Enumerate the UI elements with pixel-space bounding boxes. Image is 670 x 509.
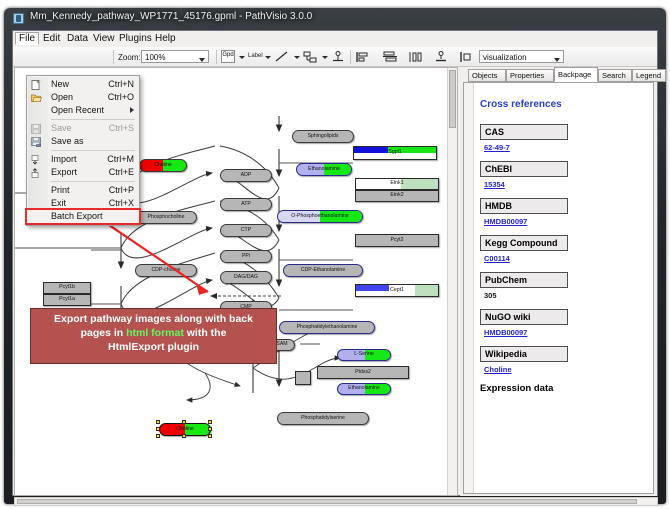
export-icon	[31, 168, 42, 178]
submenu-arrow-icon	[130, 107, 134, 113]
label-dropdown-icon[interactable]	[265, 56, 271, 59]
label-tool-button[interactable]: Label	[248, 53, 263, 59]
anchor-tool-icon[interactable]	[332, 51, 344, 63]
node-fill-left	[356, 285, 389, 291]
visualization-combo[interactable]: visualization	[479, 50, 564, 63]
backpage-scrollbar[interactable]	[464, 83, 474, 493]
db-header-wikipedia: Wikipedia	[480, 346, 568, 362]
line-dropdown-icon[interactable]	[294, 56, 300, 59]
pathway-node[interactable]: CTP	[220, 224, 272, 237]
db-value-pubchem: 305	[484, 291, 645, 300]
pathway-node[interactable]: Choline	[139, 159, 187, 172]
menu-item-new-accel: Ctrl+N	[108, 78, 134, 91]
import-icon	[31, 155, 42, 165]
shape-dropdown-icon[interactable]	[322, 56, 328, 59]
chevron-down-icon	[199, 58, 205, 62]
menu-item-export-accel: Ctrl+E	[109, 166, 134, 179]
selection-handle[interactable]	[208, 434, 212, 438]
menu-item-save-as-label: Save as	[51, 136, 84, 146]
title-bar: Mm_Kennedy_pathway_WP1771_45176.gpml - P…	[4, 8, 666, 30]
menu-item-import-label: Import	[51, 154, 77, 164]
menu-item-new-label: New	[51, 79, 69, 89]
backpage-body: Cross references CAS 62-49-7 ChEBI 15354…	[474, 83, 653, 493]
menu-item-open[interactable]: Open Ctrl+O	[27, 91, 139, 104]
callout-line-2a: pages in	[81, 327, 127, 339]
selection-handle[interactable]	[156, 427, 160, 431]
gene-node[interactable]: Sgpl1	[353, 146, 437, 160]
new-document-icon	[31, 80, 42, 90]
node-fill-right	[415, 285, 438, 296]
menu-item-save-label: Save	[51, 123, 72, 133]
gene-node-small[interactable]	[295, 371, 311, 385]
menu-item-exit[interactable]: Exit Ctrl+X	[27, 197, 139, 210]
expression-data-heading: Expression data	[480, 383, 645, 394]
menu-item-export-label: Export	[51, 167, 77, 177]
menu-item-exit-accel: Ctrl+X	[109, 197, 134, 210]
canvas-vertical-scroll-thumb[interactable]	[449, 70, 456, 128]
geneproduct-dropdown-icon[interactable]	[239, 56, 245, 59]
db-header-hmdb: HMDB	[480, 198, 568, 214]
size-icon[interactable]	[460, 51, 472, 63]
cross-references-heading: Cross references	[480, 99, 645, 110]
toolbar-separator-3	[350, 50, 351, 64]
toolbar-separator-2	[216, 50, 217, 64]
selection-handle[interactable]	[208, 420, 212, 424]
stack-icon[interactable]	[435, 51, 447, 63]
menu-item-open-accel: Ctrl+O	[108, 91, 134, 104]
selection-handle[interactable]	[182, 420, 186, 424]
menu-item-save-accel: Ctrl+S	[109, 122, 134, 135]
menu-item-open-recent[interactable]: Open Recent	[27, 104, 139, 117]
db-link-cas[interactable]: 62-49-7	[484, 143, 645, 152]
db-link-nugo[interactable]: HMDB00097	[484, 328, 645, 337]
tab-properties[interactable]: Properties	[506, 69, 554, 82]
shape-tool-icon[interactable]	[303, 51, 317, 63]
db-header-nugo: NuGO wiki	[480, 309, 568, 325]
side-panel-tabs: Objects Properties Backpage Search Legen…	[462, 67, 657, 82]
zoom-label: Zoom:	[118, 53, 141, 62]
line-tool-icon[interactable]	[275, 51, 289, 63]
pathway-node[interactable]: Ethanolamine	[296, 163, 352, 176]
window-title: Mm_Kennedy_pathway_WP1771_45176.gpml - P…	[30, 11, 312, 22]
client-area: File Edit Data View Plugins Help Zoom: 1…	[12, 30, 658, 496]
toolbar: Zoom: 100% Gpd Label	[13, 47, 657, 67]
open-folder-icon	[31, 93, 42, 103]
selection-handle[interactable]	[156, 434, 160, 438]
db-header-kegg: Kegg Compound	[480, 235, 568, 251]
selection-handle[interactable]	[156, 420, 160, 424]
menu-edit[interactable]: Edit	[39, 32, 64, 45]
pathway-node[interactable]: Phosphatidylethanolamine	[279, 321, 375, 334]
pathway-node[interactable]: Ethanolamine	[337, 383, 391, 395]
pathway-node[interactable]: CDP-Ethanolamine	[283, 264, 363, 277]
db-header-cas: CAS	[480, 124, 568, 140]
selection-handle[interactable]	[208, 427, 212, 431]
db-link-kegg[interactable]: C00114	[484, 254, 645, 263]
toolbar-separator	[113, 50, 114, 64]
menu-item-exit-label: Exit	[51, 198, 66, 208]
geneproduct-icon: Gpd	[222, 52, 234, 58]
menu-separator-2	[51, 150, 135, 151]
window-frame: Mm_Kennedy_pathway_WP1771_45176.gpml - P…	[4, 8, 666, 504]
pathway-node[interactable]: PPi	[220, 250, 272, 263]
menu-item-batch-export-label: Batch Export	[51, 211, 103, 221]
gene-node[interactable]: Cept1	[355, 284, 439, 297]
db-link-hmdb[interactable]: HMDB00097	[484, 217, 645, 226]
menu-item-save[interactable]: Save Ctrl+S	[27, 122, 139, 135]
callout-line-2: pages in html format with the	[37, 327, 270, 341]
tab-search[interactable]: Search	[598, 69, 632, 82]
pathway-node[interactable]: ADP	[220, 169, 272, 182]
zoom-combo[interactable]: 100%	[141, 50, 209, 63]
callout-line-1: Export pathway images along with back	[37, 313, 270, 327]
gene-node[interactable]: Pcyt1a	[43, 294, 91, 306]
menu-item-open-recent-label: Open Recent	[51, 105, 104, 115]
menu-bar: File Edit Data View Plugins Help	[13, 31, 657, 46]
callout-highlight: html format	[126, 327, 184, 339]
canvas-vertical-scrollbar[interactable]	[447, 68, 457, 495]
pathway-node[interactable]: CDP-choline	[135, 264, 197, 277]
pathway-node[interactable]: L-Serine	[337, 349, 391, 361]
menu-data[interactable]: Data	[63, 32, 92, 45]
pathway-node[interactable]: Phosphocholine	[135, 211, 197, 224]
menu-file[interactable]: File	[15, 32, 39, 45]
callout-annotation: Export pathway images along with back pa…	[30, 308, 277, 364]
menu-separator-3	[51, 181, 135, 182]
pathvisio-icon	[13, 13, 24, 24]
menu-item-print-accel: Ctrl+P	[109, 184, 134, 197]
menu-item-print-label: Print	[51, 185, 70, 195]
visualization-value: visualization	[483, 53, 527, 62]
menu-item-import[interactable]: Import Ctrl+M	[27, 153, 139, 166]
callout-line-2b: with the	[184, 327, 227, 339]
align-left-icon[interactable]	[356, 51, 370, 63]
gene-node[interactable]: Etnk1	[355, 178, 439, 190]
horizontal-scroll-thumb[interactable]	[17, 499, 637, 504]
zoom-value: 100%	[145, 53, 165, 62]
menu-separator	[51, 119, 135, 120]
save-as-icon	[31, 137, 42, 147]
node-fill-right	[401, 179, 438, 189]
pathway-node[interactable]: DAG/DAG	[220, 271, 272, 284]
callout-line-3: HtmlExport plugin	[37, 341, 270, 355]
menu-help[interactable]: Help	[151, 32, 180, 45]
gene-node[interactable]: Pcyt1b	[43, 282, 91, 294]
node-fill-left	[354, 147, 388, 153]
chevron-down-icon-2	[554, 58, 560, 62]
selection-handle[interactable]	[182, 434, 186, 438]
menu-item-import-accel: Ctrl+M	[107, 153, 134, 166]
gene-node[interactable]: Ptdss2	[317, 366, 409, 379]
db-header-pubchem: PubChem	[480, 272, 568, 288]
pathway-node[interactable]: O-Phosphoethanolamine	[277, 210, 363, 223]
geneproduct-tool-button[interactable]: Gpd	[221, 50, 235, 63]
file-menu-popup[interactable]: New Ctrl+N Open Ctrl+O Open Recent	[26, 75, 140, 226]
tab-legend[interactable]: Legend	[632, 69, 666, 82]
side-panel: Objects Properties Backpage Search Legen…	[460, 67, 657, 496]
menu-plugins[interactable]: Plugins	[115, 32, 156, 45]
horizontal-scrollbar[interactable]	[14, 497, 658, 506]
db-header-chebi: ChEBI	[480, 161, 568, 177]
menu-item-batch-export[interactable]: Batch Export	[27, 210, 139, 223]
db-link-chebi[interactable]: 15354	[484, 180, 645, 189]
gene-node[interactable]: Pcyt2	[355, 234, 439, 247]
db-link-wikipedia[interactable]: Choline	[484, 365, 645, 374]
application-window: Mm_Kennedy_pathway_WP1771_45176.gpml - P…	[0, 0, 670, 509]
distribute-horizontal-icon[interactable]	[409, 51, 423, 63]
backpage-content[interactable]: Cross references CAS 62-49-7 ChEBI 15354…	[463, 82, 654, 494]
pathway-node[interactable]: ATP	[220, 198, 272, 211]
pathway-node[interactable]: Sphingolipids	[292, 130, 354, 143]
save-disk-icon	[31, 124, 42, 134]
menu-item-new[interactable]: New Ctrl+N	[27, 78, 139, 91]
menu-item-open-label: Open	[51, 92, 73, 102]
pathway-node[interactable]: Phosphatidylserine	[277, 412, 369, 425]
tab-objects[interactable]: Objects	[468, 69, 506, 82]
distribute-vertical-icon[interactable]	[383, 51, 397, 63]
menu-item-save-as[interactable]: Save as	[27, 135, 139, 148]
menu-item-export[interactable]: Export Ctrl+E	[27, 166, 139, 179]
gene-node[interactable]: Etnk2	[355, 190, 439, 202]
menu-item-print[interactable]: Print Ctrl+P	[27, 184, 139, 197]
tab-backpage[interactable]: Backpage	[554, 67, 598, 82]
